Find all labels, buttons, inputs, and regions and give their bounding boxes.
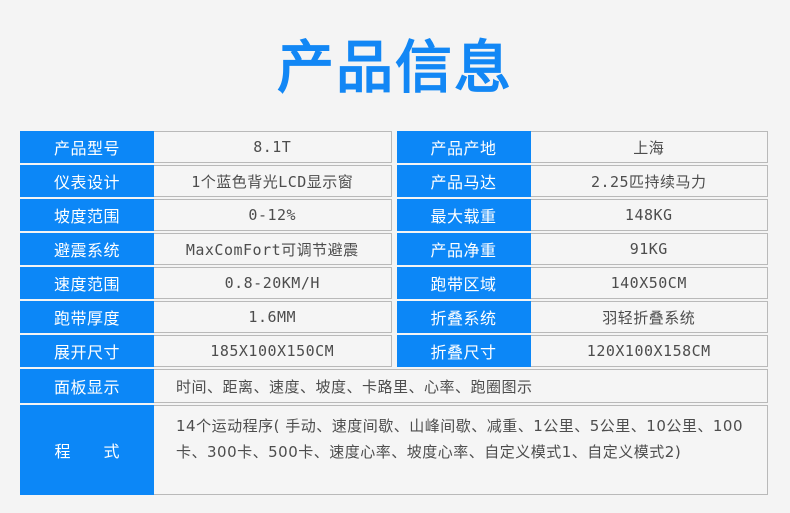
spec-pair-right: 产品净重 91KG [397,233,769,265]
table-row: 跑带厚度 1.6MM 折叠系统 羽轻折叠系统 [20,301,768,333]
spec-label: 跑带区域 [397,267,531,299]
spec-value: 120X100X158CM [531,335,769,367]
table-row: 产品型号 8.1T 产品产地 上海 [20,131,768,163]
table-row: 仪表设计 1个蓝色背光LCD显示窗 产品马达 2.25匹持续马力 [20,165,768,197]
table-row: 避震系统 MaxComFort可调节避震 产品净重 91KG [20,233,768,265]
spec-value: 8.1T [154,131,392,163]
spec-value: 148KG [531,199,769,231]
spec-label: 展开尺寸 [20,335,154,367]
spec-value: MaxComFort可调节避震 [154,233,392,265]
spec-value: 时间、距离、速度、坡度、卡路里、心率、跑圈图示 [154,369,768,403]
spec-value: 140X50CM [531,267,769,299]
spec-value: 185X100X150CM [154,335,392,367]
page-title: 产品信息 [0,33,790,103]
spec-label: 跑带厚度 [20,301,154,333]
spec-label: 速度范围 [20,267,154,299]
table-row-panel-display: 面板显示 时间、距离、速度、坡度、卡路里、心率、跑圈图示 [20,369,768,403]
spec-pair-right: 产品产地 上海 [397,131,769,163]
spec-label: 仪表设计 [20,165,154,197]
spec-value: 0-12% [154,199,392,231]
spec-label: 折叠系统 [397,301,531,333]
product-info-page: 产品信息 产品型号 8.1T 产品产地 上海 仪表设计 1个蓝色背光LCD显示窗… [0,0,790,513]
spec-pair-left: 跑带厚度 1.6MM [20,301,392,333]
spec-value: 2.25匹持续马力 [531,165,769,197]
spec-pair-left: 速度范围 0.8-20KM/H [20,267,392,299]
spec-pair-left: 坡度范围 0-12% [20,199,392,231]
spec-value: 0.8-20KM/H [154,267,392,299]
spec-value: 14个运动程序( 手动、速度间歇、山峰间歇、减重、1公里、5公里、10公里、10… [154,405,768,495]
spec-pair-left: 避震系统 MaxComFort可调节避震 [20,233,392,265]
table-row-program: 程 式 14个运动程序( 手动、速度间歇、山峰间歇、减重、1公里、5公里、10公… [20,405,768,495]
spec-label: 产品型号 [20,131,154,163]
spec-label: 最大载重 [397,199,531,231]
spec-pair-right: 产品马达 2.25匹持续马力 [397,165,769,197]
spec-label: 产品产地 [397,131,531,163]
spec-pair-right: 跑带区域 140X50CM [397,267,769,299]
spec-value: 91KG [531,233,769,265]
spec-pair-left: 产品型号 8.1T [20,131,392,163]
spec-pair-right: 折叠系统 羽轻折叠系统 [397,301,769,333]
spec-value: 1.6MM [154,301,392,333]
spec-label: 产品净重 [397,233,531,265]
spec-label: 产品马达 [397,165,531,197]
spec-label: 面板显示 [20,369,154,403]
spec-pair-right: 折叠尺寸 120X100X158CM [397,335,769,367]
spec-label: 程 式 [20,405,154,495]
spec-pair-right: 最大载重 148KG [397,199,769,231]
spec-pair-left: 仪表设计 1个蓝色背光LCD显示窗 [20,165,392,197]
table-row: 速度范围 0.8-20KM/H 跑带区域 140X50CM [20,267,768,299]
spec-value: 1个蓝色背光LCD显示窗 [154,165,392,197]
spec-value: 上海 [531,131,769,163]
spec-label: 坡度范围 [20,199,154,231]
table-row: 坡度范围 0-12% 最大载重 148KG [20,199,768,231]
table-row: 展开尺寸 185X100X150CM 折叠尺寸 120X100X158CM [20,335,768,367]
spec-table: 产品型号 8.1T 产品产地 上海 仪表设计 1个蓝色背光LCD显示窗 产品马达… [20,131,768,497]
spec-pair-left: 展开尺寸 185X100X150CM [20,335,392,367]
spec-value: 羽轻折叠系统 [531,301,769,333]
spec-label: 折叠尺寸 [397,335,531,367]
spec-label: 避震系统 [20,233,154,265]
